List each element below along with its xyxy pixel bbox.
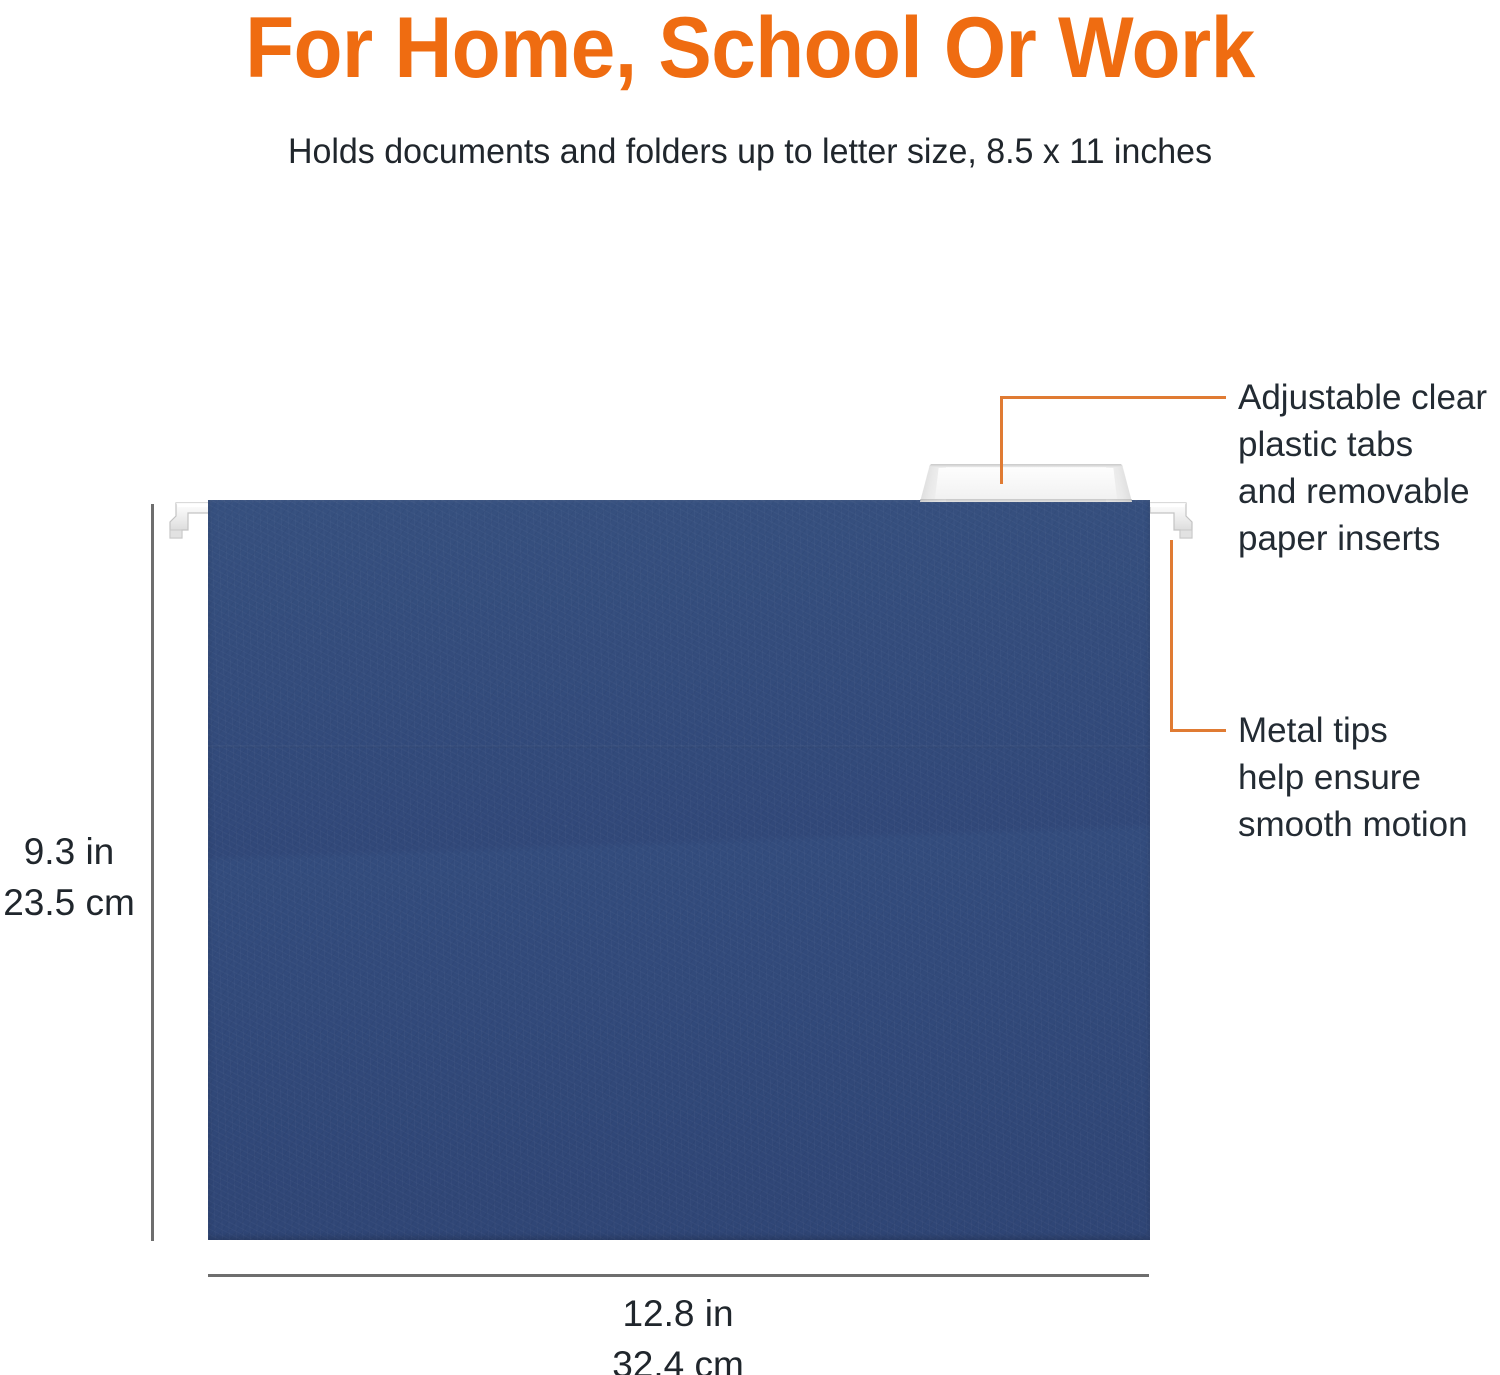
folder-crease: [208, 745, 1150, 748]
leader-line-metal-tips-vertical: [1170, 540, 1173, 732]
leader-line-plastic-tabs-vertical: [1000, 396, 1003, 484]
infographic-page: For Home, School Or Work Holds documents…: [0, 0, 1500, 1375]
dimension-label-height: 9.3 in 23.5 cm: [0, 826, 142, 928]
plastic-tab: [920, 464, 1132, 502]
plastic-tab-paper-insert: [935, 468, 1117, 499]
dimension-label-width: 12.8 in 32.4 cm: [418, 1288, 938, 1375]
product-illustration: [0, 0, 1500, 1375]
dimension-line-width: [208, 1274, 1149, 1277]
annotation-plastic-tabs: Adjustable clear plastic tabs and remova…: [1238, 374, 1500, 562]
metal-tip-hook-left-icon: [166, 500, 212, 544]
leader-line-metal-tips-horizontal: [1170, 729, 1226, 732]
plastic-tab-shadow: [920, 499, 1132, 503]
metal-tip-hook-right-icon: [1150, 500, 1196, 544]
plastic-tab-top-edge: [929, 464, 1123, 467]
annotation-metal-tips: Metal tips help ensure smooth motion: [1238, 707, 1500, 848]
folder-panel: [208, 500, 1150, 1240]
leader-line-plastic-tabs-horizontal: [1000, 396, 1226, 399]
dimension-line-height: [151, 504, 154, 1241]
